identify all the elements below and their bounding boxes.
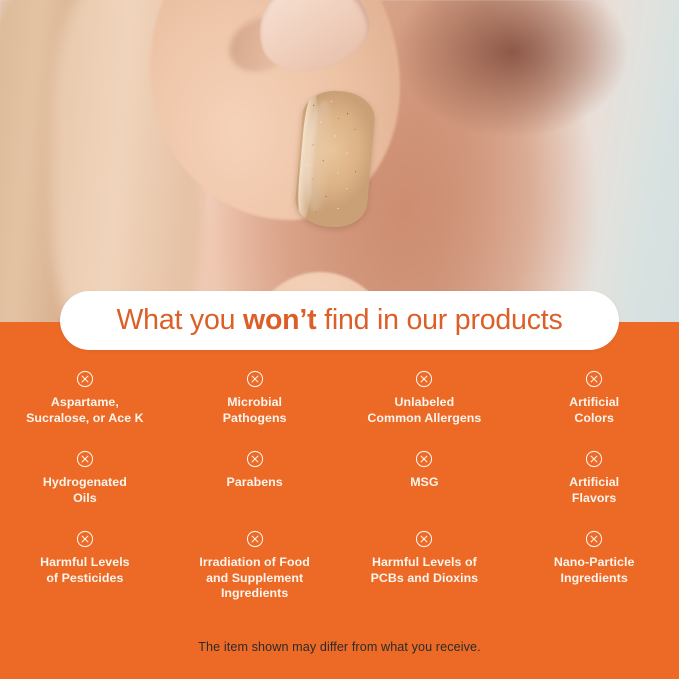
product-infographic: What you won’t find in our products Aspa…: [0, 0, 679, 679]
x-circle-icon: [246, 370, 264, 388]
x-circle-icon: [415, 530, 433, 548]
disclaimer-text: The item shown may differ from what you …: [0, 640, 679, 654]
list-item: Harmful Levels of Pesticides: [0, 530, 170, 616]
headline-emphasis: won’t: [243, 304, 316, 336]
tablet-speckles: [293, 88, 377, 230]
list-item: Harmful Levels of PCBs and Dioxins: [340, 530, 510, 616]
list-item-label: Nano-Particle Ingredients: [554, 555, 635, 586]
list-item-label: MSG: [410, 475, 438, 491]
headline-banner: What you won’t find in our products: [60, 291, 619, 350]
x-circle-icon: [76, 530, 94, 548]
page-title: What you won’t find in our products: [116, 306, 562, 335]
list-item-label: Microbial Pathogens: [223, 395, 287, 426]
list-item-label: Artificial Flavors: [569, 475, 619, 506]
list-item-label: Parabens: [227, 475, 283, 491]
list-item: Aspartame, Sucralose, or Ace K: [0, 370, 170, 450]
list-item: Irradiation of Food and Supplement Ingre…: [170, 530, 340, 616]
x-circle-icon: [246, 530, 264, 548]
product-photo: [0, 0, 679, 326]
x-circle-icon: [246, 450, 264, 468]
list-item: Artificial Colors: [509, 370, 679, 450]
grid-row: Harmful Levels of Pesticides Irradiation…: [0, 530, 679, 616]
list-item-label: Irradiation of Food and Supplement Ingre…: [199, 555, 309, 602]
x-circle-icon: [415, 370, 433, 388]
grid-row: Aspartame, Sucralose, or Ace K Microbial…: [0, 370, 679, 450]
list-item-label: Artificial Colors: [569, 395, 619, 426]
x-circle-icon: [76, 370, 94, 388]
list-item: MSG: [340, 450, 510, 530]
list-item-label: Unlabeled Common Allergens: [367, 395, 481, 426]
list-item: Hydrogenated Oils: [0, 450, 170, 530]
list-item: Unlabeled Common Allergens: [340, 370, 510, 450]
list-item: Artificial Flavors: [509, 450, 679, 530]
list-item-label: Harmful Levels of Pesticides: [40, 555, 130, 586]
supplement-tablet: [293, 88, 377, 230]
grid-row: Hydrogenated Oils Parabens MSG: [0, 450, 679, 530]
headline-text-after: find in our products: [316, 304, 562, 336]
x-circle-icon: [76, 450, 94, 468]
list-item-label: Hydrogenated Oils: [43, 475, 127, 506]
excluded-ingredients-grid: Aspartame, Sucralose, or Ace K Microbial…: [0, 370, 679, 616]
x-circle-icon: [585, 370, 603, 388]
list-item: Microbial Pathogens: [170, 370, 340, 450]
list-item-label: Aspartame, Sucralose, or Ace K: [26, 395, 144, 426]
x-circle-icon: [585, 530, 603, 548]
headline-text-before: What you: [116, 304, 243, 336]
list-item-label: Harmful Levels of PCBs and Dioxins: [371, 555, 479, 586]
list-item: Parabens: [170, 450, 340, 530]
x-circle-icon: [415, 450, 433, 468]
list-item: Nano-Particle Ingredients: [509, 530, 679, 616]
x-circle-icon: [585, 450, 603, 468]
